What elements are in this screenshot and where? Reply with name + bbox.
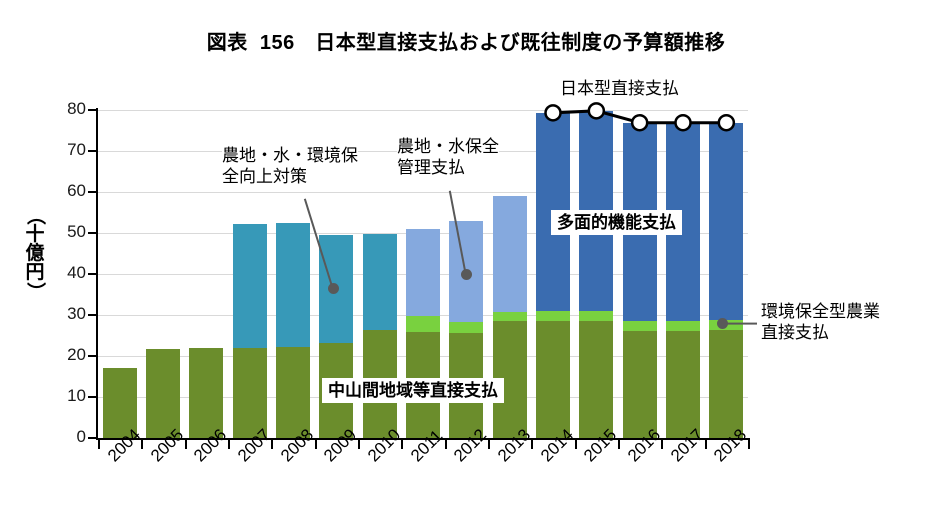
line-marker (719, 115, 734, 130)
line-marker (589, 103, 604, 118)
line-marker (546, 105, 561, 120)
annotation-nochi-mizu-kankyo: 農地・水・環境保 全向上対策 (222, 145, 358, 188)
leader-dot-nochi-mizu-kankyo (328, 283, 339, 294)
line-marker (676, 115, 691, 130)
line-series-nihongata (0, 0, 932, 527)
leader-dot-kankyo-hozen (717, 318, 728, 329)
leader-dot-nochi-mizu-hozen (461, 269, 472, 280)
annotation-tamenteki: 多面的機能支払 (551, 210, 682, 235)
annotation-kankyo-hozen: 環境保全型農業 直接支払 (761, 301, 880, 344)
chart-figure: 図表 156 日本型直接支払および既往制度の予算額推移 807060504030… (0, 0, 932, 527)
annotation-nihongata: 日本型直接支払 (560, 78, 679, 99)
line-marker (632, 115, 647, 130)
annotation-chusankan: 中山間地域等直接支払 (322, 378, 504, 403)
annotation-nochi-mizu-hozen: 農地・水保全 管理支払 (397, 136, 499, 179)
